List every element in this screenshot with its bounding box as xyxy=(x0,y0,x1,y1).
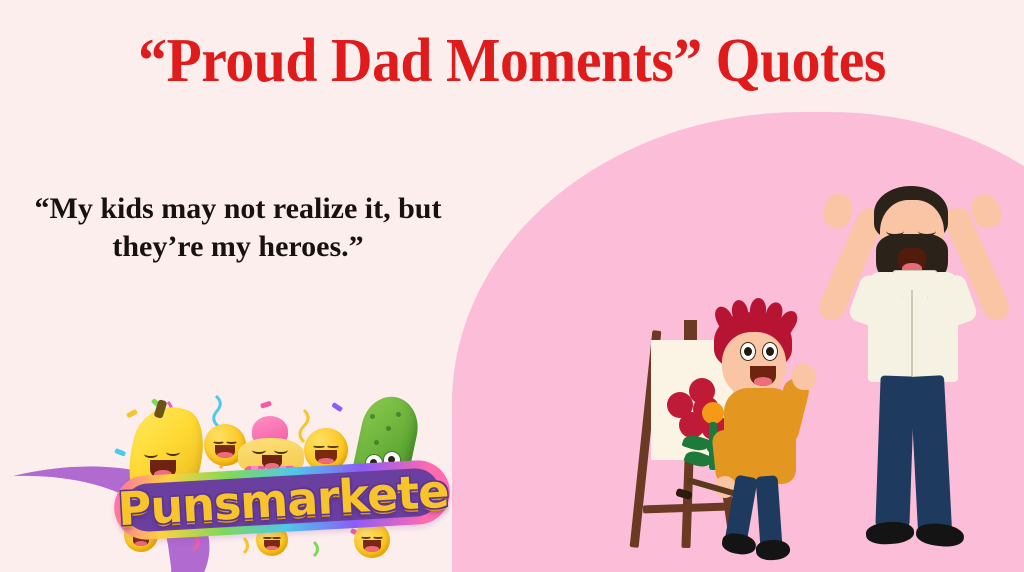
dad-left-hand xyxy=(819,191,856,232)
brand-logo: Punsmarkete xyxy=(108,392,458,562)
child-painter-figure xyxy=(700,312,830,560)
poster-canvas: “Proud Dad Moments” Quotes “My kids may … xyxy=(0,0,1024,572)
quote-text: “My kids may not realize it, but they’re… xyxy=(28,190,448,266)
page-title: “Proud Dad Moments” Quotes xyxy=(36,26,988,96)
dad-cheering-figure xyxy=(812,186,1012,558)
